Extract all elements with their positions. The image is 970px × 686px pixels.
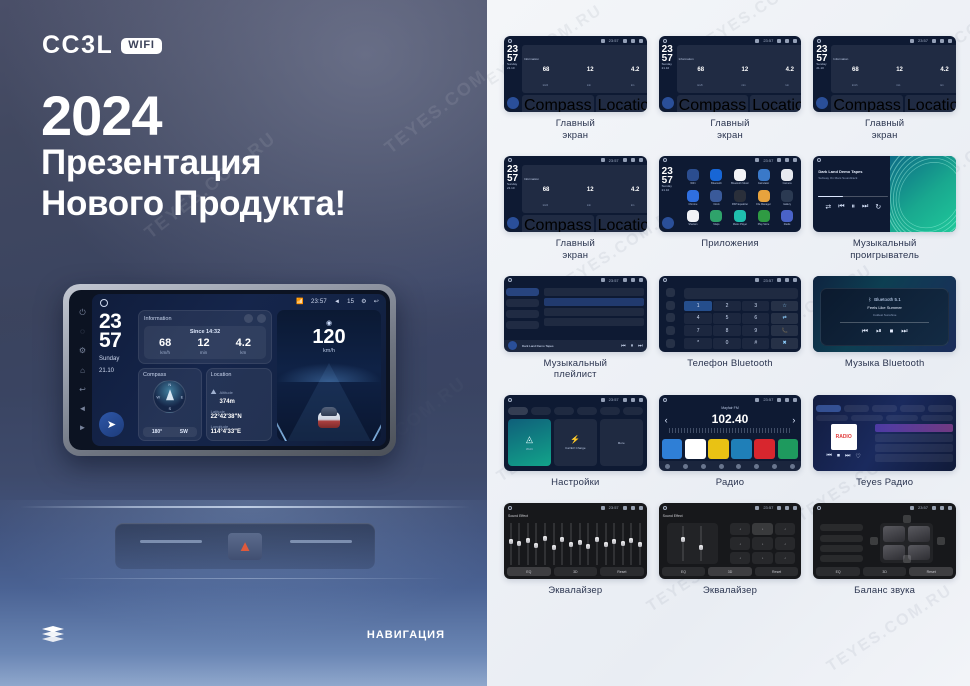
information-card[interactable]: Information Since 14:32 [138,310,272,364]
phone-nav-item[interactable] [666,301,675,310]
eq-preset[interactable]: ♪ [775,537,795,549]
back-icon[interactable] [793,506,797,510]
compass-card[interactable]: Compass [522,215,594,232]
settings-tab[interactable] [508,407,528,415]
app-icon-dsp-equalizer[interactable]: DSP Equalizer [730,188,751,207]
balance-presets[interactable] [820,521,863,565]
eq-band-3[interactable] [526,523,529,565]
teyes-tabs[interactable] [816,405,953,412]
eq-footer-eq[interactable]: EQ [662,567,706,576]
status-clock: 23:57 [763,397,773,402]
track-artist: Coldest Sunshine [873,313,897,317]
settings-icon[interactable] [785,158,789,162]
volume-icon [623,278,627,282]
dialpad: 123☆456⇄789📞*0#✖ [681,285,801,352]
settings-tab[interactable] [623,407,643,415]
gallery-tile-sound-balance[interactable]: 23:57 EQ3DReset Баланс звука [813,503,956,597]
back-icon[interactable] [639,506,643,510]
balance-footer[interactable]: EQ3DReset [816,567,953,576]
screenshot-sound-balance[interactable]: 23:57 EQ3DReset [813,503,956,579]
app-icon-chrome[interactable]: Chrome [683,188,704,207]
dialpad-action[interactable]: ⇄ [771,313,798,324]
back-icon[interactable] [639,39,643,43]
playlist-category[interactable] [506,288,539,296]
track-title: Dark Land Demo Tapes [522,344,616,348]
dial-key-#[interactable]: # [742,338,769,349]
mini-widget-row: Compass Location [522,95,647,112]
head-unit-screen[interactable]: 📶 23:57 ◄ 15 ⚙ ↩ 23 57 Sunday [92,294,386,446]
gallery-tile-home-drive[interactable]: 23:57 23 57 Sunday 21.10 Information 68k… [813,36,956,142]
progress-bar[interactable] [818,196,888,198]
app-icon-wifi[interactable]: WiFi [683,168,704,187]
screenshot-music-player[interactable]: 23:57 Dark Land Demo Tapes Subway On Mar… [813,156,956,232]
phone-number-input[interactable] [684,288,798,299]
app-icon-music-player[interactable]: Music Player [730,209,751,228]
back-icon[interactable] [639,158,643,162]
app-icon-play-store[interactable]: Play Store [753,209,774,228]
phone-nav[interactable] [659,285,682,352]
preset-grid[interactable]: ♪♪♪♪♪♪♪♪♪ [730,523,795,564]
back-icon[interactable] [639,398,643,402]
gallery-tile-bt-music[interactable]: 23:57 ᛒBluetooth 5.1 Feels Like Summer C… [813,276,956,382]
home-indicator-icon[interactable] [817,506,821,510]
stat-time: 12 min [197,338,209,355]
gallery-tile-home-media[interactable]: 23:57 23 57 Sunday 21.10 Information 68k… [504,36,647,142]
prev-icon: ⏮ [621,343,626,349]
gallery-tile-teyes-radio[interactable]: RADIO ⏮⏹⏭♡ Teyes Радио [813,395,956,489]
radio-preset[interactable] [685,439,706,459]
home-indicator-icon[interactable] [817,158,821,162]
brand-name: CC3L [42,33,113,58]
eq-band-11[interactable] [595,523,598,565]
balance-left-icon[interactable] [870,537,878,545]
status-clock: 23:57 [763,505,773,510]
back-icon[interactable] [793,39,797,43]
home-indicator-icon[interactable] [508,158,512,162]
track-row[interactable] [544,288,644,296]
gallery-tile-equalizer-presets[interactable]: 23:57 Sound Effect ♪♪♪♪♪♪♪♪♪ EQ3DReset Э… [659,503,802,597]
compass-card[interactable]: Compass N S W E 180° [138,368,202,441]
station-row[interactable] [875,434,953,442]
teyes-tab[interactable] [872,405,897,412]
volume-icon [623,158,627,162]
tile-label-sound-balance: Баланс звука [854,585,915,597]
settings-icon[interactable] [631,506,635,510]
mini-widget-row: Compass Location [677,95,802,112]
next-station-icon[interactable]: › [792,415,795,425]
balance-preset[interactable] [820,535,863,542]
eq-footer-reset[interactable]: Reset [600,567,644,576]
gallery-tile-bt-phone[interactable]: 23:57 123☆456⇄789📞*0#✖ Телефон Bluetooth [659,276,802,382]
location-card[interactable]: Location [596,215,647,232]
teyes-tab[interactable] [900,405,925,412]
location-card[interactable]: Location [596,95,647,112]
balance-preset[interactable] [820,524,863,531]
dial-key-1[interactable]: 1 [684,301,711,312]
playback-bar[interactable]: Dark Land Demo Tapes ⏮⏸⏭ [504,340,647,352]
gallery-tile-home-apps-panel[interactable]: 23:57 23 57 Sunday 21.10 Information 68k… [659,36,802,142]
gallery-tile-home-speed[interactable]: 23:57 23 57 Sunday 21.10 Information 68k… [504,156,647,262]
screenshot-settings[interactable]: 23:57 ◬Wi-Fi ⚡Car/EV Charge More [504,395,647,471]
screenshot-home-speed[interactable]: 23:57 23 57 Sunday 21.10 Information 68k… [504,156,647,232]
eq-band-10[interactable] [587,523,590,565]
tile-label-home-media: Главныйэкран [556,118,595,142]
navigation-button[interactable] [507,97,519,109]
home-indicator-icon[interactable] [663,158,667,162]
volume-icon [777,158,781,162]
fader-1[interactable] [682,526,685,561]
playlist-category[interactable] [506,321,539,329]
playlist-category[interactable] [506,310,539,318]
app-icon-bluetooth-music[interactable]: Bluetooth Music [730,168,751,187]
status-clock: 23:57 [609,505,619,510]
home-indicator-icon[interactable] [100,299,108,307]
phone-nav-item[interactable] [666,288,675,297]
home-indicator-icon[interactable] [663,398,667,402]
home-indicator-icon[interactable] [508,398,512,402]
back-icon[interactable] [948,506,952,510]
equalizer-bands[interactable] [509,523,642,565]
eq-band-15[interactable] [630,523,633,565]
teyes-filter[interactable] [886,415,918,421]
navigation-button[interactable] [662,97,674,109]
expand-icon[interactable] [257,314,266,323]
radio-preset[interactable] [754,439,775,459]
home-indicator-icon[interactable] [817,39,821,43]
settings-tab[interactable] [554,407,574,415]
album-art [508,341,517,350]
app-icon-gallery[interactable]: Gallery [777,188,798,207]
back-icon[interactable] [948,39,952,43]
eq-band-4[interactable] [535,523,538,565]
eq-preset[interactable]: ♪ [730,523,750,535]
app-icon-radio[interactable]: Radio [777,209,798,228]
screenshot-teyes-radio[interactable]: RADIO ⏮⏹⏭♡ [813,395,956,471]
screenshot-home-apps-panel[interactable]: 23:57 23 57 Sunday 21.10 Information 68k… [659,36,802,112]
stat-value: 4.2 [236,338,251,349]
screenshot-music-playlist[interactable]: 23:57 Dark Land Demo Tapes ⏮⏸⏭ [504,276,647,352]
eq-preset[interactable]: ♪ [730,552,750,564]
information-card[interactable]: Information 68km/h12min4.2km [522,45,647,93]
volume-up-icon[interactable]: ► [78,423,87,432]
volume-icon [777,506,781,510]
frequency-scale[interactable] [669,428,792,433]
driving-view-card[interactable]: ◉ 120 km/h [277,310,381,441]
tile-label-bt-music: Музыка Bluetooth [845,358,925,370]
fader-controls[interactable] [667,523,718,564]
track-row[interactable] [544,308,644,316]
information-title: Information [524,177,539,181]
settings-icon[interactable] [631,158,635,162]
radio-preset[interactable] [662,439,683,459]
settings-icon[interactable] [631,39,635,43]
next-icon: ⏭ [845,453,850,460]
wifi-icon [755,39,759,43]
balance-right-icon[interactable] [937,537,945,545]
eq-band-12[interactable] [604,523,607,565]
track-row[interactable] [544,298,644,306]
eq-footer-reset[interactable]: Reset [755,567,799,576]
phone-nav-item[interactable] [666,339,675,348]
settings-tab[interactable] [577,407,597,415]
balance-up-icon[interactable] [903,515,911,523]
vent-slat [140,540,202,543]
teyes-tab[interactable] [816,405,841,412]
playback-controls[interactable]: ⏮⏹⏭♡ [816,453,871,460]
eq-band-9[interactable] [578,523,581,565]
home-indicator-icon[interactable] [508,278,512,282]
equalizer-footer[interactable]: EQ3DReset [662,567,799,576]
compass-card[interactable]: Compass [677,95,749,112]
track-artist: Subway On Mars Soundtrack [818,176,888,180]
location-card[interactable]: Location [750,95,801,112]
screenshot-home-drive[interactable]: 23:57 23 57 Sunday 21.10 Information 68k… [813,36,956,112]
dialpad-action[interactable]: ✖ [771,338,798,349]
information-card[interactable]: Information 68km/h12min4.2km [831,45,956,93]
eq-band-5[interactable] [544,523,547,565]
settings-icon[interactable]: ⚙ [361,298,367,305]
clock-column: 23 57 Sunday 21.10 ➤ [97,310,133,441]
settings-icon[interactable] [631,278,635,282]
equalizer-title: Sound Effect [663,514,683,518]
compass-south: S [168,406,171,411]
settings-icon[interactable] [785,506,789,510]
radio-preset[interactable] [708,439,729,459]
status-clock: 23:57 [311,299,327,305]
eq-preset[interactable]: ♪ [752,523,772,535]
refresh-icon[interactable] [244,314,253,323]
dial-key-7[interactable]: 7 [684,325,711,336]
hazard-light-button[interactable]: ▲ [228,533,262,560]
track-row[interactable] [544,318,644,326]
clock-date: 21.10 [662,189,681,193]
stat-value: 4.2 [940,67,948,73]
settings-tab[interactable] [531,407,551,415]
volume-icon [623,398,627,402]
screenshot-bt-phone[interactable]: 23:57 123☆456⇄789📞*0#✖ [659,276,802,352]
speed-readout: ◉ 120 km/h [277,319,381,354]
compass-title: Compass [679,97,747,112]
teyes-tab[interactable] [844,405,869,412]
volume-level: 15 [347,299,354,305]
app-icon-clock[interactable]: Clock [706,188,727,207]
now-playing: Dark Land Demo Tapes Subway On Mars Soun… [813,165,893,232]
eq-preset[interactable]: ♪ [775,523,795,535]
eq-band-8[interactable] [569,523,572,565]
power-icon[interactable]: ⏻ [78,308,87,317]
app-icon-maps[interactable]: Maps [706,209,727,228]
information-title: Information [679,57,694,61]
app-icon-shazam[interactable]: Shazam [683,209,704,228]
bluetooth-player-card[interactable]: ᛒBluetooth 5.1 Feels Like Summer Coldest… [820,288,949,346]
balance-footer-reset[interactable]: Reset [909,567,953,576]
screenshot-home-media[interactable]: 23:57 23 57 Sunday 21.10 Information 68k… [504,36,647,112]
eq-preset[interactable]: ♪ [752,552,772,564]
compass-needle-icon [166,389,174,400]
app-icon-file-manager[interactable]: File Manager [753,188,774,207]
teyes-filter[interactable] [921,415,953,421]
app-icon-calculator[interactable]: Calculator [753,168,774,187]
home-icon[interactable]: ⌂ [78,366,87,375]
hero-headline: Презентация Нового Продукта! [41,143,346,224]
back-icon[interactable] [639,278,643,282]
phone-nav-item[interactable] [666,326,675,335]
latitude-row: Latitude 22°42'38"N [211,409,267,420]
screenshot-radio[interactable]: 23:57 Mayfair FM 102.40 ‹ › [659,395,802,471]
clock-date: 21.10 [507,67,519,71]
settings-card-charge[interactable]: ⚡Car/EV Charge [554,419,597,466]
settings-card-wifi[interactable]: ◬Wi-Fi [508,419,551,466]
gallery-tile-music-playlist[interactable]: 23:57 Dark Land Demo Tapes ⏮⏸⏭ Музыкальн… [504,276,647,382]
eq-band-2[interactable] [518,523,521,565]
eq-band-16[interactable] [639,523,642,565]
balance-down-icon[interactable] [903,555,911,563]
dial-key-5[interactable]: 5 [713,313,740,324]
settings-icon[interactable] [785,398,789,402]
app-icon-camera[interactable]: Camera [777,168,798,187]
station-list[interactable] [875,424,953,467]
back-icon[interactable] [793,278,797,282]
balance-footer-eq[interactable]: EQ [816,567,860,576]
mini-clock-column: 23 57 Sunday 21.10 [816,45,828,109]
eq-footer-3d[interactable]: 3D [708,567,752,576]
dial-key-9[interactable]: 9 [742,325,769,336]
home-indicator-icon[interactable] [508,506,512,510]
progress-bar[interactable] [840,322,929,323]
volume-down-icon[interactable]: ◄ [78,404,87,413]
mini-widget-row: Compass Location [831,95,956,112]
home-indicator-icon[interactable] [663,278,667,282]
eq-band-13[interactable] [613,523,616,565]
home-indicator-icon[interactable] [663,39,667,43]
dial-key-8[interactable]: 8 [713,325,740,336]
settings-icon[interactable] [940,506,944,510]
station-row[interactable] [875,444,953,452]
screenshot-apps[interactable]: 23:57 23 57 Sunday 21.10 WiFiBluetoothBl… [659,156,802,232]
location-card[interactable]: Location [905,95,956,112]
screenshot-equalizer-bands[interactable]: 23:57 Sound Effect EQ3DReset [504,503,647,579]
back-icon[interactable]: ↩ [78,385,87,394]
navigation-button[interactable] [507,217,519,229]
dial-key-*[interactable]: * [684,338,711,349]
eq-band-1[interactable] [509,523,512,565]
eq-footer-3d[interactable]: 3D [554,567,598,576]
phone-nav-item[interactable] [666,313,675,322]
dialpad-action[interactable]: 📞 [771,325,798,336]
playlist-category[interactable] [506,299,539,307]
radio-preset[interactable] [778,439,799,459]
eq-preset[interactable]: ♪ [752,537,772,549]
station-row[interactable] [875,454,953,462]
settings-icon[interactable] [785,278,789,282]
teyes-filter[interactable] [851,415,883,421]
compass-card[interactable]: Compass [522,95,594,112]
status-bar: 23:57 [659,503,802,512]
back-icon[interactable]: ↩ [374,298,379,305]
back-icon[interactable] [793,398,797,402]
gallery-tile-radio[interactable]: 23:57 Mayfair FM 102.40 ‹ › Радио [659,395,802,489]
balance-preset[interactable] [820,545,863,552]
dial-key-6[interactable]: 6 [742,313,769,324]
altitude-label: Altitude [220,390,233,395]
home-indicator-icon[interactable] [663,506,667,510]
eq-band-14[interactable] [621,523,624,565]
navigation-button[interactable] [662,217,674,229]
mute-icon[interactable]: ◌ [78,327,87,336]
dial-key-3[interactable]: 3 [742,301,769,312]
stat-unit: km [940,84,943,87]
navigation-button[interactable] [816,97,828,109]
settings-tab[interactable] [600,407,620,415]
screenshot-equalizer-presets[interactable]: 23:57 Sound Effect ♪♪♪♪♪♪♪♪♪ EQ3DReset [659,503,802,579]
compass-readout: 180° SW [143,427,197,437]
settings-icon[interactable] [631,398,635,402]
clock-block: 23 57 Sunday 21.10 [99,312,133,376]
teyes-filter[interactable] [816,415,848,421]
back-icon[interactable] [793,158,797,162]
screenshot-bt-music[interactable]: 23:57 ᛒBluetooth 5.1 Feels Like Summer C… [813,276,956,352]
eq-band-6[interactable] [552,523,555,565]
dialpad-action[interactable]: ☆ [771,301,798,312]
favorite-icon: ♡ [855,453,860,460]
settings-card-more[interactable]: More [600,419,643,466]
gallery-tile-apps[interactable]: 23:57 23 57 Sunday 21.10 WiFiBluetoothBl… [659,156,802,262]
information-card[interactable]: Information 68km/h12min4.2km [677,45,802,93]
status-bar: 23:57 [504,503,647,512]
eq-footer-eq[interactable]: EQ [507,567,551,576]
balance-preset[interactable] [820,555,863,562]
eq-preset[interactable]: ♪ [730,537,750,549]
home-indicator-icon[interactable] [508,39,512,43]
settings-tabs[interactable] [508,407,643,415]
track-list[interactable] [541,285,647,340]
playback-controls[interactable]: ⏮⏯ ⏹⏭ [862,328,908,336]
app-icon-bluetooth[interactable]: Bluetooth [706,168,727,187]
stat-unit: min [896,84,900,87]
information-card[interactable]: Information 68km/h12min4.2km [522,165,647,213]
teyes-tab[interactable] [928,405,953,412]
tile-label-music-player: Музыкальныйпроигрыватель [850,238,919,262]
gallery-tile-music-player[interactable]: 23:57 Dark Land Demo Tapes Subway On Mar… [813,156,956,262]
navigation-button[interactable]: ➤ [99,412,124,437]
radio-toolbar[interactable] [659,461,802,471]
gear-icon[interactable]: ⚙ [78,346,87,355]
teyes-filters[interactable] [816,415,953,421]
stat: 4.2km [631,187,639,211]
eq-band-7[interactable] [561,523,564,565]
prev-station-icon[interactable]: ‹ [665,415,668,425]
dial-key-0[interactable]: 0 [713,338,740,349]
station-row[interactable] [875,424,953,432]
stat: 4.2km [631,67,639,91]
gallery-tile-settings[interactable]: 23:57 ◬Wi-Fi ⚡Car/EV Charge More Настрой… [504,395,647,489]
eq-preset[interactable]: ♪ [775,552,795,564]
settings-icon[interactable] [785,39,789,43]
gallery-tile-equalizer-bands[interactable]: 23:57 Sound Effect EQ3DReset Эквалайзер [504,503,647,597]
tile-label-settings: Настройки [551,477,599,489]
fader-2[interactable] [700,526,703,561]
dial-key-4[interactable]: 4 [684,313,711,324]
settings-icon[interactable] [940,39,944,43]
balance-footer-3d[interactable]: 3D [863,567,907,576]
dial-key-2[interactable]: 2 [713,301,740,312]
equalizer-footer[interactable]: EQ3DReset [507,567,644,576]
hero-footer-label: НАВИГАЦИЯ [367,629,445,641]
radio-preset[interactable] [731,439,752,459]
location-card[interactable]: Location ⛰ Altitude 374m [206,368,272,441]
playback-controls[interactable]: ⇄⏮ ⏸⏭↻ [818,203,888,211]
compass-card[interactable]: Compass [831,95,903,112]
